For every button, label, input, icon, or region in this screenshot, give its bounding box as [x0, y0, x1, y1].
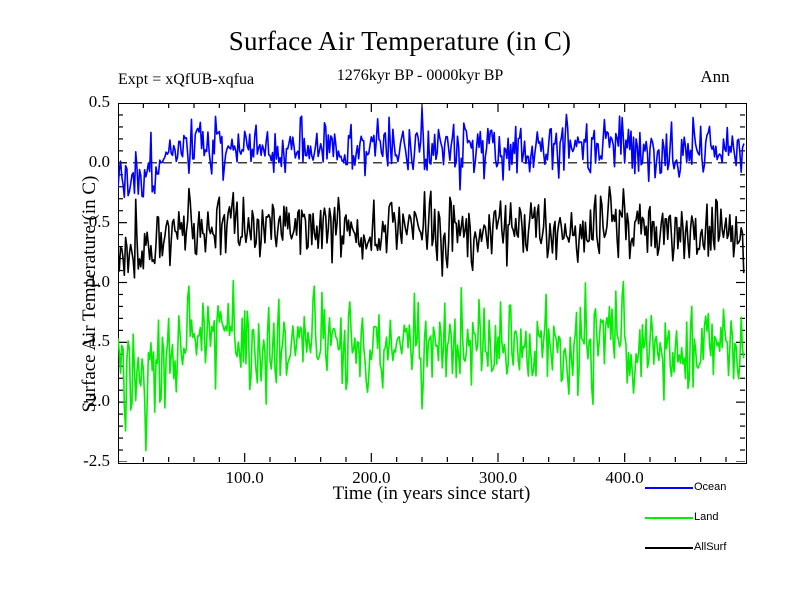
experiment-label: Expt = xQfUB-xqfua: [118, 71, 254, 89]
page-title: Surface Air Temperature (in C): [0, 26, 800, 57]
y-axis-tick-label: -2.0: [50, 391, 110, 411]
plot-area: [118, 103, 745, 462]
y-axis-tick-label: -1.5: [50, 331, 110, 351]
y-axis-tick-label: -2.5: [50, 451, 110, 471]
x-axis-tick-label: 300.0: [453, 468, 543, 488]
legend-line-swatch: [645, 547, 693, 549]
chart-canvas: Surface Air Temperature (in C) 1276kyr B…: [0, 0, 800, 600]
x-axis-tick-label: 100.0: [200, 468, 290, 488]
y-axis-tick-label: -1.0: [50, 272, 110, 292]
legend-line-swatch: [645, 487, 693, 489]
legend-item-label: AllSurf: [694, 540, 726, 555]
chart-subtitle: 1276kyr BP - 0000kyr BP: [200, 67, 640, 85]
legend-item-label: Land: [694, 510, 718, 525]
legend-line-swatch: [645, 517, 693, 519]
y-axis-tick-label: -0.5: [50, 212, 110, 232]
y-axis-tick-label: 0.0: [50, 152, 110, 172]
averaging-period-label: Ann: [645, 67, 785, 87]
legend-item-allsurf[interactable]: AllSurf: [640, 540, 790, 556]
legend-item-ocean[interactable]: Ocean: [640, 480, 790, 496]
chart-legend: OceanLandAllSurf: [640, 480, 800, 570]
y-axis-tick-label: 0.5: [50, 92, 110, 112]
legend-item-label: Ocean: [694, 480, 726, 495]
x-axis-tick-label: 200.0: [326, 468, 416, 488]
legend-item-land[interactable]: Land: [640, 510, 790, 526]
